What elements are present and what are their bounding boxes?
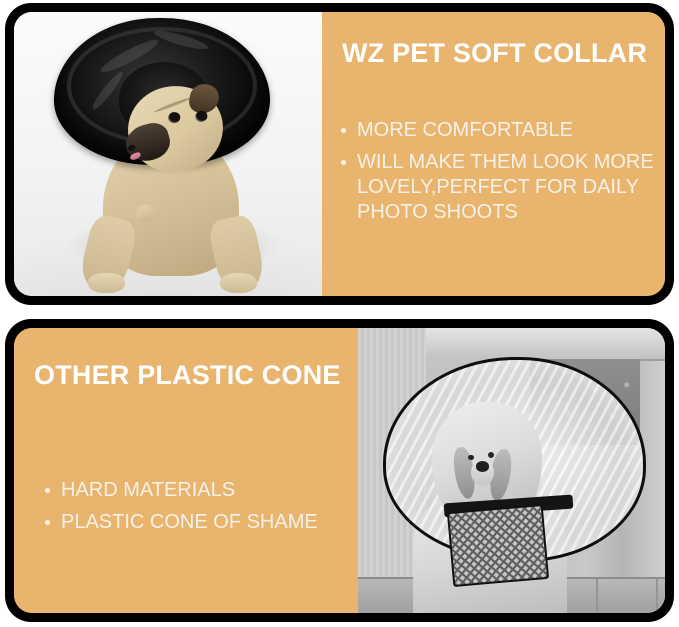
card-title-plastic-cone: OTHER PLASTIC CONE	[34, 360, 341, 391]
kitchen-upper-cabinet	[426, 328, 665, 361]
dog-nose	[476, 461, 489, 471]
feature-list-soft-collar: MORE COMFORTABLE WILL MAKE THEM LOOK MOR…	[338, 118, 656, 232]
dog-eye-left	[167, 111, 181, 124]
card-inner-top: WZ PET SOFT COLLAR MORE COMFORTABLE WILL…	[14, 12, 665, 296]
product-card-soft-collar: WZ PET SOFT COLLAR MORE COMFORTABLE WILL…	[5, 3, 674, 305]
comparison-infographic: WZ PET SOFT COLLAR MORE COMFORTABLE WILL…	[0, 0, 679, 627]
feature-list-plastic-cone: HARD MATERIALS PLASTIC CONE OF SHAME	[42, 478, 342, 542]
pug-wearing-black-soft-collar-photo	[14, 12, 322, 296]
dog-forehead-wrinkle	[154, 96, 193, 114]
dog-nose	[127, 144, 136, 152]
card-inner-bottom: OTHER PLASTIC CONE HARD MATERIALS PLASTI…	[14, 328, 665, 613]
dog-muzzle	[122, 119, 174, 165]
dog-paw-left	[88, 273, 125, 293]
card-title-soft-collar: WZ PET SOFT COLLAR	[342, 38, 647, 69]
dog-paw-right	[220, 273, 257, 293]
product-card-plastic-cone: OTHER PLASTIC CONE HARD MATERIALS PLASTI…	[5, 319, 674, 622]
plastic-cone-text-panel: OTHER PLASTIC CONE HARD MATERIALS PLASTI…	[14, 328, 358, 613]
list-item: WILL MAKE THEM LOOK MORE LOVELY,PERFECT …	[338, 150, 656, 225]
dog-eye-left	[468, 455, 474, 461]
list-item: PLASTIC CONE OF SHAME	[42, 510, 342, 535]
cone-mesh-panel	[447, 504, 549, 587]
list-item: HARD MATERIALS	[42, 478, 342, 503]
dog-elbow	[134, 203, 156, 225]
dog-eye-right	[488, 452, 494, 458]
labrador-wearing-plastic-cone-photo	[358, 328, 665, 613]
soft-collar-text-panel: WZ PET SOFT COLLAR MORE COMFORTABLE WILL…	[322, 12, 665, 296]
list-item: MORE COMFORTABLE	[338, 118, 656, 143]
